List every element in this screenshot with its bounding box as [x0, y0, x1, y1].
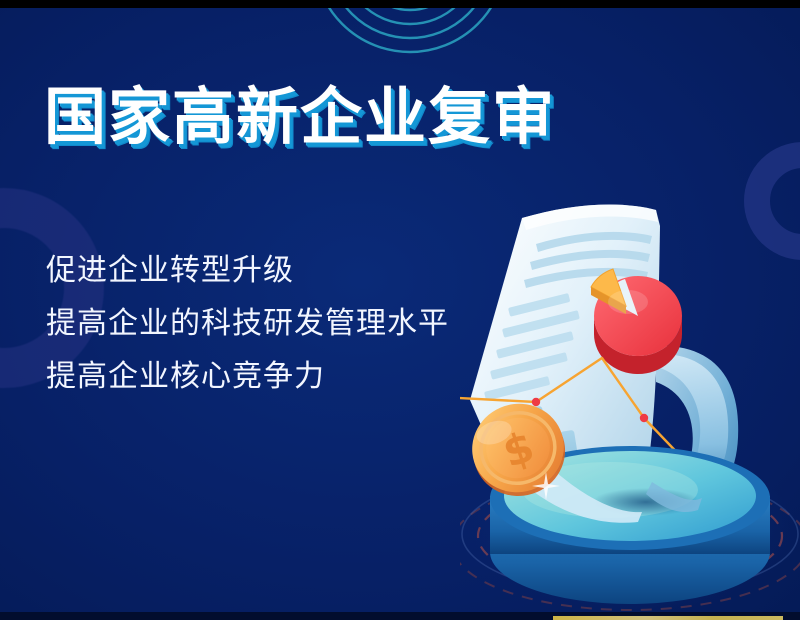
bullet-line-1: 促进企业转型升级 — [46, 244, 449, 297]
bullet-line-3: 提高企业核心竞争力 — [46, 350, 449, 403]
pie-chart-graphic — [591, 269, 682, 374]
bullet-line-2: 提高企业的科技研发管理水平 — [46, 297, 449, 350]
page-title: 国家高新企业复审 — [44, 84, 556, 149]
top-black-strip — [0, 0, 800, 8]
signal-arcs-icon — [300, 0, 520, 68]
bullet-list: 促进企业转型升级 提高企业的科技研发管理水平 提高企业核心竞争力 — [46, 244, 449, 403]
illustration-document-award: $ — [460, 196, 800, 620]
poster-canvas: 高新企业 国家高新企业复审 促进企业转型升级 提高企业的科技研发管理水平 提高企… — [0, 0, 800, 620]
bottom-cutoff-banner — [553, 616, 783, 620]
decorative-arcs-bottom-left — [0, 452, 160, 620]
